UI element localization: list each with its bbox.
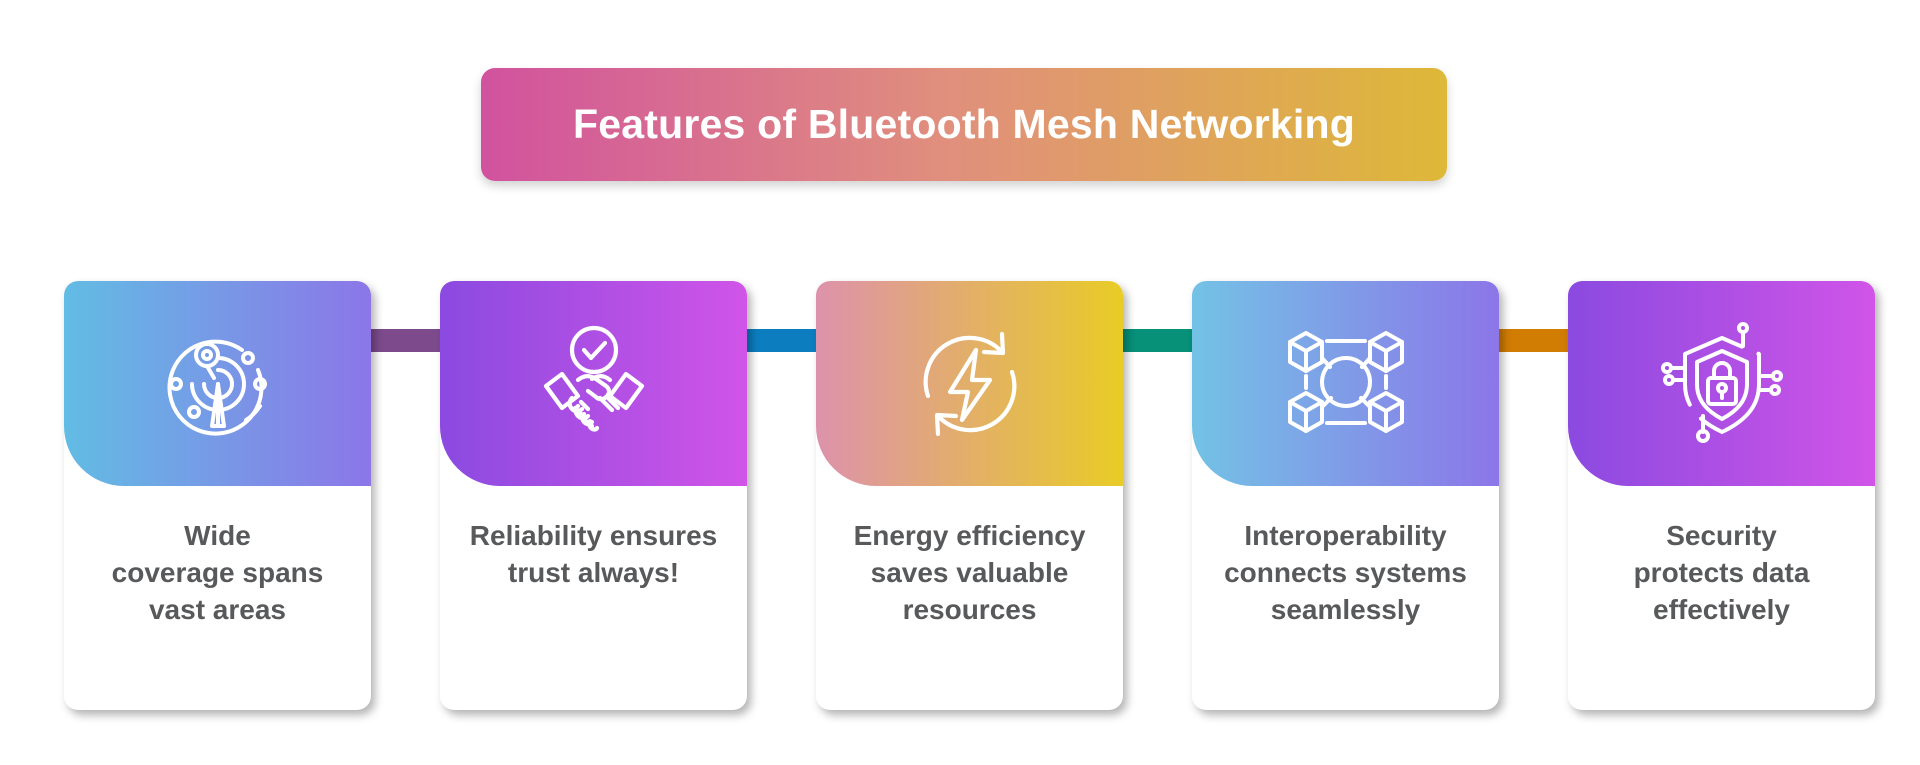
card-header-security — [1568, 281, 1875, 486]
card-caption: Wide coverage spans vast areas — [112, 518, 324, 629]
shield-lock-icon — [1655, 320, 1789, 448]
feature-card-security[interactable]: Security protects data effectively — [1568, 281, 1875, 710]
feature-card-wide-coverage[interactable]: Wide coverage spans vast areas — [64, 281, 371, 710]
handshake-check-icon — [526, 320, 662, 448]
feature-card-interoperability[interactable]: Interoperability connects systems seamle… — [1192, 281, 1499, 710]
card-body-wide-coverage: Wide coverage spans vast areas — [64, 486, 371, 710]
card-body-energy-efficiency: Energy efficiency saves valuable resourc… — [816, 486, 1123, 710]
card-body-security: Security protects data effectively — [1568, 486, 1875, 710]
connector-bar-2 — [738, 329, 824, 352]
energy-refresh-icon — [906, 320, 1034, 448]
card-body-reliability: Reliability ensures trust always! — [440, 486, 747, 710]
feature-card-energy-efficiency[interactable]: Energy efficiency saves valuable resourc… — [816, 281, 1123, 710]
feature-card-reliability[interactable]: Reliability ensures trust always! — [440, 281, 747, 710]
coverage-radar-icon — [154, 320, 282, 448]
network-cubes-icon — [1280, 320, 1412, 448]
feature-cards-row: Wide coverage spans vast areas — [0, 0, 1920, 765]
card-caption: Energy efficiency saves valuable resourc… — [854, 518, 1086, 629]
card-header-reliability — [440, 281, 747, 486]
card-header-interoperability — [1192, 281, 1499, 486]
connector-bar-3 — [1114, 329, 1200, 352]
card-caption: Security protects data effectively — [1634, 518, 1810, 629]
card-caption: Reliability ensures trust always! — [470, 518, 717, 592]
connector-bar-1 — [362, 329, 448, 352]
card-header-wide-coverage — [64, 281, 371, 486]
card-caption: Interoperability connects systems seamle… — [1224, 518, 1467, 629]
card-body-interoperability: Interoperability connects systems seamle… — [1192, 486, 1499, 710]
card-header-energy-efficiency — [816, 281, 1123, 486]
connector-bar-4 — [1490, 329, 1576, 352]
